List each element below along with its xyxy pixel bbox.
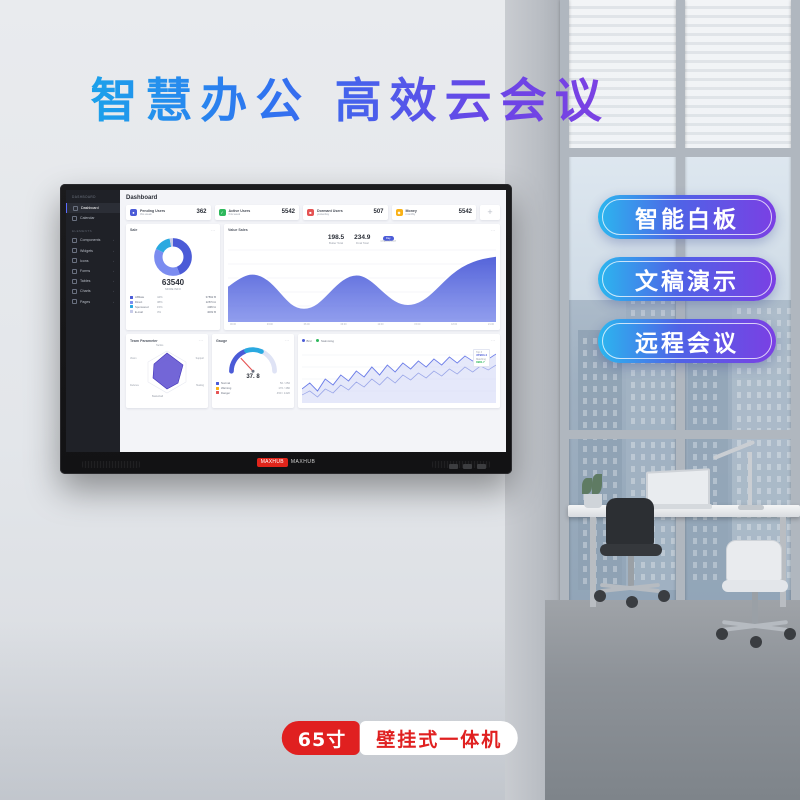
sidebar-item-pages[interactable]: Pages ›	[66, 297, 120, 307]
x-tick: 06:00	[304, 323, 310, 326]
tv-ports	[449, 464, 486, 469]
window-transom	[560, 148, 800, 157]
radar-axis-label: Tactics	[156, 344, 163, 347]
legend-pct: 3%	[157, 310, 171, 314]
card-menu-icon[interactable]: ···	[285, 338, 291, 343]
sidebar-item-label: Widgets	[80, 249, 93, 253]
window-transom	[560, 430, 800, 439]
sidebar-item-charts[interactable]: Charts ›	[66, 286, 120, 296]
sidebar-item-components[interactable]: Components ›	[66, 235, 120, 245]
kpi-card-pending-users[interactable]: ● Pending Users this week 362	[126, 205, 211, 220]
sidebar-brand: DASHBOARD	[66, 195, 120, 203]
kpi-value: 507	[373, 209, 383, 215]
kpi-card-dormant-users[interactable]: ■ Dormant Users yesterday 507	[303, 205, 388, 220]
chevron-right-icon: ›	[113, 259, 114, 263]
legend-item: Swimming	[316, 339, 333, 343]
legend-label: Warning	[221, 386, 231, 390]
sidebar-item-label: Icons	[80, 259, 89, 263]
sidebar-item-forms[interactable]: Forms ›	[66, 266, 120, 276]
legend-value: 37892 B	[206, 295, 216, 299]
sidebar-item-label: Pages	[80, 300, 90, 304]
chevron-right-icon: ›	[113, 238, 114, 242]
legend-value: 4082 B	[207, 310, 216, 314]
sidebar-item-label: Dashboard	[81, 206, 99, 210]
radar-axis-label: Vision	[130, 357, 136, 360]
chevron-right-icon: ›	[113, 289, 114, 293]
stat-label: Butter Total	[328, 241, 344, 245]
sidebar-item-dashboard[interactable]: Dashboard	[66, 203, 120, 213]
radar-axis-label: Defence	[130, 384, 139, 387]
radar-axis-label: Basketball	[152, 395, 163, 398]
card-title: Gauge	[216, 339, 227, 343]
radar-chart	[130, 345, 204, 397]
feature-pill-remote-meeting: 远程会议	[598, 319, 776, 363]
tv-screen: DASHBOARD Dashboard Calendar ELEMENTS Co…	[66, 190, 506, 452]
kpi-card-money[interactable]: ◆ Money monthly 5542	[392, 205, 477, 220]
statistics-card: Bird Swimming ···	[298, 334, 500, 408]
legend-label: Sponsored	[135, 305, 157, 309]
kpi-sub: monthly	[406, 213, 417, 216]
card-title: Value Sales	[228, 228, 248, 232]
gauge-chart	[216, 345, 290, 375]
product-badge: 65寸 壁挂式一体机	[282, 721, 518, 755]
sale-donut-card: Sale ··· 63540 MORE INFO	[126, 224, 220, 331]
kpi-value: 5542	[459, 209, 472, 215]
check-icon: ✓	[219, 209, 226, 216]
feature-pill-whiteboard: 智能白板	[598, 195, 776, 239]
widgets-icon	[72, 248, 77, 253]
x-tick: 00:00	[230, 323, 236, 326]
legend-value: 450 / 1420	[277, 391, 290, 395]
legend-label: Normal	[221, 381, 230, 385]
card-menu-icon[interactable]: ···	[199, 338, 205, 343]
sidebar-section-label: ELEMENTS	[66, 223, 120, 235]
chevron-right-icon: ›	[113, 249, 114, 253]
tables-icon	[72, 279, 77, 284]
area-stat-final: 234.9 Final Total	[354, 235, 370, 246]
legend-label: Direct	[135, 300, 157, 304]
legend-item: Bird	[302, 339, 311, 343]
area-stat-butter: 198.5 Butter Total	[328, 235, 344, 246]
feature-pill-label: 智能白板	[635, 200, 739, 234]
office-chair	[592, 498, 672, 608]
legend-item: Normal 50 / 250	[216, 381, 290, 385]
dashboard-sidebar: DASHBOARD Dashboard Calendar ELEMENTS Co…	[66, 190, 120, 452]
legend-label: Swimming	[321, 339, 334, 343]
chevron-right-icon: ›	[113, 300, 114, 304]
legend-value: 22874 A	[206, 300, 216, 304]
legend-pct: 44%	[157, 295, 171, 299]
office-chair	[716, 540, 800, 655]
donut-chart	[151, 235, 195, 279]
annotation-sub-value: 8981.7	[476, 361, 487, 364]
x-tick: 12:00	[377, 323, 383, 326]
legend-value: 170 / 480	[278, 386, 290, 390]
sidebar-item-calendar[interactable]: Calendar	[66, 213, 120, 223]
icons-icon	[72, 258, 77, 263]
card-title: Sale	[130, 228, 137, 232]
sidebar-item-label: Components	[80, 238, 100, 242]
sidebar-item-tables[interactable]: Tables ›	[66, 276, 120, 286]
value-sales-card: Value Sales ··· 198.5 Butter Total 234.9…	[224, 224, 500, 331]
desk-lamp-post	[748, 452, 752, 510]
gauge-legend: Normal 50 / 250 Warning 170 / 480 Danger…	[216, 381, 290, 394]
charts-row-primary: Sale ··· 63540 MORE INFO	[126, 224, 500, 331]
wallet-icon: ◆	[396, 209, 403, 216]
sidebar-item-label: Charts	[80, 289, 91, 293]
radar-axis-label: Healing	[196, 384, 204, 387]
dashboard-app: DASHBOARD Dashboard Calendar ELEMENTS Co…	[66, 190, 506, 452]
legend-label: Danger	[221, 391, 230, 395]
pause-icon: ■	[307, 209, 314, 216]
donut-more-info: MORE INFO	[165, 287, 181, 291]
legend-item: E-mail 3% 4082 B	[130, 309, 216, 314]
donut-legend: Affiliate 44% 37892 B Direct 38% 22874 A	[130, 295, 216, 314]
sidebar-item-label: Calendar	[80, 216, 95, 220]
legend-item: Warning 170 / 480	[216, 386, 290, 390]
area-chart	[228, 246, 496, 322]
team-parameter-card: Team Parameter ··· Tactics Support Heali…	[126, 334, 208, 408]
kpi-sub: yesterday	[317, 213, 343, 216]
add-widget-button[interactable]: +	[480, 205, 500, 220]
forms-icon	[72, 269, 77, 274]
sidebar-item-label: Forms	[80, 269, 90, 273]
dashboard-main: Dashboard ● Pending Users this week 362 …	[120, 190, 506, 452]
page-title: Dashboard	[126, 195, 500, 201]
poster-headline: 智慧办公 高效云会议	[0, 62, 700, 131]
legend-label: E-mail	[135, 310, 157, 314]
x-tick: 09:00	[341, 323, 347, 326]
gauge-card: Gauge ··· 37. 8 Normal	[212, 334, 294, 408]
pill-sub: CHECKPOINT	[380, 240, 396, 243]
badge-size: 65寸	[282, 721, 360, 755]
donut-total-value: 63540	[162, 279, 184, 287]
x-tick: 21:00	[488, 323, 494, 326]
card-menu-icon[interactable]: ···	[491, 228, 497, 233]
x-tick: 15:00	[414, 323, 420, 326]
charts-icon	[72, 289, 77, 294]
grid-icon	[73, 206, 78, 211]
card-menu-icon[interactable]: ···	[211, 228, 217, 233]
legend-label: Bird	[307, 339, 312, 343]
legend-pct: 15%	[157, 305, 171, 309]
tv-brand-badge: MAXHUB	[257, 458, 288, 467]
feature-pill-label: 文稿演示	[635, 262, 739, 296]
kpi-value: 362	[196, 209, 206, 215]
chevron-right-icon: ›	[113, 279, 114, 283]
pages-icon	[72, 299, 77, 304]
card-menu-icon[interactable]: ···	[491, 338, 497, 343]
tv-brand: MAXHUB MAXHUB	[60, 454, 512, 470]
calendar-icon	[72, 216, 77, 221]
line-chart	[302, 345, 496, 403]
sidebar-item-icons[interactable]: Icons ›	[66, 256, 120, 266]
legend-value: 50 / 250	[280, 381, 290, 385]
legend-value: 4083 A	[207, 305, 216, 309]
stat-label: Final Total	[354, 241, 370, 245]
kpi-card-active-users[interactable]: ✓ Active Users this week 5542	[215, 205, 300, 220]
sidebar-item-widgets[interactable]: Widgets ›	[66, 246, 120, 256]
feature-pill-presentation: 文稿演示	[598, 257, 776, 301]
legend-pct: 38%	[157, 300, 171, 304]
chart-annotation: Top 3 37984.4 Matching 8981.7	[473, 349, 490, 366]
kpi-sub: this week	[140, 213, 165, 216]
card-title: Team Parameter	[130, 339, 158, 343]
badge-type: 壁挂式一体机	[360, 721, 518, 755]
x-tick: 03:00	[267, 323, 273, 326]
sidebar-item-label: Tables	[80, 279, 90, 283]
users-icon: ●	[130, 209, 137, 216]
line-legend: Bird Swimming	[302, 339, 334, 343]
x-tick: 18:00	[451, 323, 457, 326]
kpi-sub: this week	[229, 213, 251, 216]
feature-pill-label: 远程会议	[635, 324, 739, 358]
chevron-right-icon: ›	[113, 269, 114, 273]
kpi-value: 5542	[282, 209, 295, 215]
charts-row-secondary: Team Parameter ··· Tactics Support Heali…	[126, 334, 500, 408]
kpi-row: ● Pending Users this week 362 ✓ Active U…	[126, 205, 500, 220]
desk-lamp-base	[738, 505, 764, 510]
components-icon	[72, 238, 77, 243]
legend-item: Danger 450 / 1420	[216, 391, 290, 395]
legend-label: Affiliate	[135, 295, 157, 299]
radar-axis-label: Support	[196, 357, 204, 360]
tv-brand-text: MAXHUB	[291, 459, 315, 465]
